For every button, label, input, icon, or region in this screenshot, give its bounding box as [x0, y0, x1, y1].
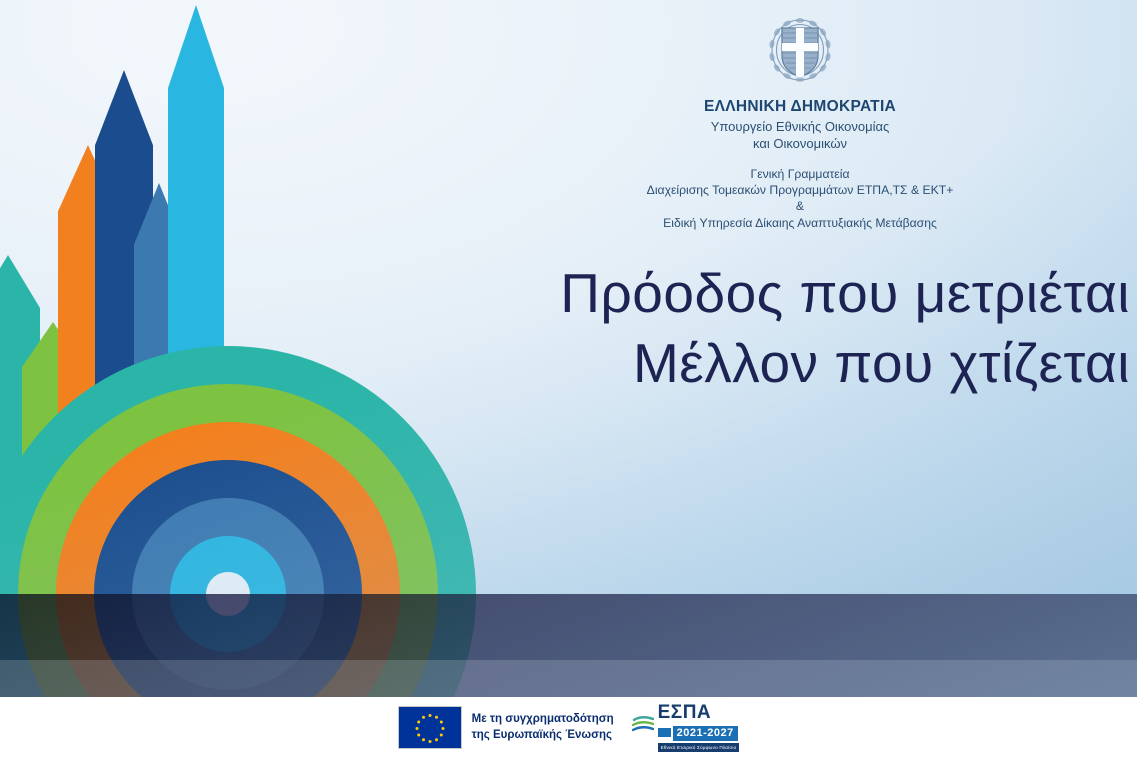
- cover-artwork: ΕΛΛΗΝΙΚΗ ΔΗΜΟΚΡΑΤΙΑ Υπουργείο Εθνικής Οι…: [0, 0, 1137, 697]
- dark-band-light-strip: [0, 660, 1137, 697]
- headline-line-2: Μέλλον που χτίζεται: [470, 328, 1130, 398]
- espa-wordmark: ΕΣΠΑ: [658, 702, 712, 723]
- espa-mini-flag-icon: [658, 728, 671, 737]
- headline-line-1: Πρόοδος που μετριέται: [470, 258, 1130, 328]
- funding-footer: Με τη συγχρηματοδότηση της Ευρωπαϊκής Έν…: [0, 697, 1137, 758]
- government-identity-block: ΕΛΛΗΝΙΚΗ ΔΗΜΟΚΡΑΤΙΑ Υπουργείο Εθνικής Οι…: [610, 10, 990, 231]
- espa-text-box: ΕΣΠΑ 2021-2027 Εθνικό Εταιρικό Σύμφωνο Π…: [658, 703, 740, 751]
- spacer: [610, 152, 990, 166]
- eu-cofunding-line-1: Με τη συγχρηματοδότηση: [472, 712, 614, 728]
- republic-title: ΕΛΛΗΝΙΚΗ ΔΗΜΟΚΡΑΤΙΑ: [610, 98, 990, 116]
- greek-coat-of-arms-icon: [763, 10, 837, 90]
- espa-programming-period: 2021-2027: [673, 726, 738, 740]
- ministry-line-1: Υπουργείο Εθνικής Οικονομίας: [610, 119, 990, 136]
- european-union-flag-icon: [398, 706, 462, 749]
- eu-cofunding-line-2: της Ευρωπαϊκής Ένωσης: [472, 728, 614, 744]
- secretariat-line-2: Διαχείρισης Τομεακών Προγραμμάτων ΕΤΠΑ,Τ…: [610, 182, 990, 198]
- secretariat-line-3: &: [610, 198, 990, 214]
- espa-logo: ΕΣΠΑ 2021-2027 Εθνικό Εταιρικό Σύμφωνο Π…: [632, 703, 740, 751]
- ministry-line-2: και Οικονομικών: [610, 136, 990, 153]
- slide-headline: Πρόοδος που μετριέται Μέλλον που χτίζετα…: [470, 258, 1130, 399]
- secretariat-line-1: Γενική Γραμματεία: [610, 166, 990, 182]
- secretariat-line-4: Ειδική Υπηρεσία Δίκαιης Αναπτυξιακής Μετ…: [610, 215, 990, 231]
- eu-stars: [399, 707, 461, 748]
- eu-cofunding-text: Με τη συγχρηματοδότηση της Ευρωπαϊκής Έν…: [472, 712, 614, 743]
- espa-tagline: Εθνικό Εταιρικό Σύμφωνο Πλαίσιο: [658, 743, 740, 751]
- presentation-slide: ΕΛΛΗΝΙΚΗ ΔΗΜΟΚΡΑΤΙΑ Υπουργείο Εθνικής Οι…: [0, 0, 1137, 758]
- espa-swoosh-icon: [632, 714, 654, 740]
